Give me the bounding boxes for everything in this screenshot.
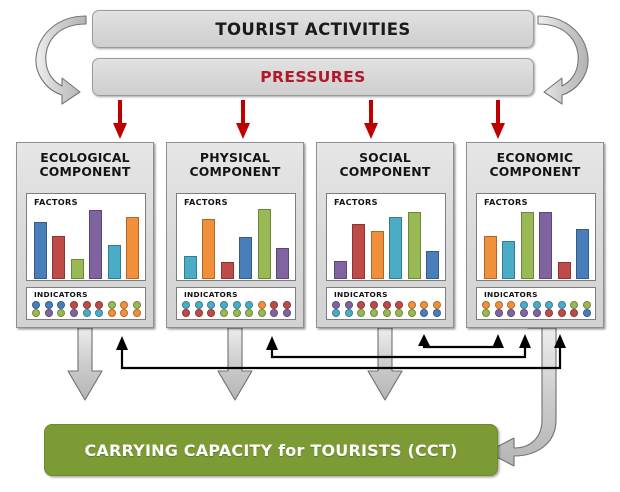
factor-bar (108, 245, 121, 279)
red-down-arrow-icon (364, 100, 378, 139)
factor-bar (184, 256, 197, 279)
factor-bar (334, 261, 347, 279)
indicator-dot (57, 301, 65, 309)
indicator-dot (95, 309, 103, 317)
indicator-dot (195, 301, 203, 309)
component-title-line2: COMPONENT (21, 165, 149, 179)
indicator-dot-column (207, 301, 215, 317)
black-up-arrow-icon (266, 336, 525, 357)
indicator-dot-column (245, 301, 253, 317)
indicator-dot-column (283, 301, 291, 317)
component-title-economic: ECONOMICCOMPONENT (471, 151, 599, 180)
indicator-dot-column (70, 301, 78, 317)
factor-bar (521, 212, 534, 279)
indicator-dot (220, 301, 228, 309)
component-title-social: SOCIALCOMPONENT (321, 151, 449, 180)
indicator-dot (70, 309, 78, 317)
curved-arrow-counterclockwise-icon (538, 16, 588, 104)
indicators-label: INDICATORS (484, 290, 538, 299)
factors-chart-social: FACTORS (326, 193, 446, 281)
indicator-dots (32, 299, 141, 317)
indicator-dot (332, 309, 340, 317)
indicator-dot-column (482, 301, 490, 317)
red-down-arrow-icon (113, 100, 127, 139)
factor-bar (239, 237, 252, 279)
component-card-ecological[interactable]: ECOLOGICALCOMPONENTFACTORSINDICATORS (16, 142, 154, 328)
factors-chart-physical: FACTORS (176, 193, 296, 281)
indicator-dot (533, 301, 541, 309)
indicator-dot (207, 309, 215, 317)
factor-bar (34, 222, 47, 279)
indicator-dot-column (45, 301, 53, 317)
indicator-dot (133, 309, 141, 317)
factors-chart-ecological: FACTORS (26, 193, 146, 281)
indicator-dot (545, 301, 553, 309)
indicator-dot (420, 301, 428, 309)
indicator-dot (83, 309, 91, 317)
indicator-dot (408, 301, 416, 309)
factor-bar (426, 251, 439, 279)
indicator-dot-column (95, 301, 103, 317)
factor-bar (539, 212, 552, 279)
black-up-arrow-icon (492, 334, 504, 348)
indicator-dot (408, 309, 416, 317)
component-card-physical[interactable]: PHYSICALCOMPONENTFACTORSINDICATORS (166, 142, 304, 328)
component-card-social[interactable]: SOCIALCOMPONENTFACTORSINDICATORS (316, 142, 454, 328)
indicator-dot-column (233, 301, 241, 317)
indicator-dot (70, 301, 78, 309)
black-up-arrow-icon (519, 334, 531, 348)
factors-bars (484, 205, 589, 279)
carrying-capacity-label: CARRYING CAPACITY for TOURISTS (CCT) (84, 441, 457, 460)
factor-bar (52, 236, 65, 279)
indicators-panel-social: INDICATORS (326, 287, 446, 320)
component-title-line2: COMPONENT (321, 165, 449, 179)
curved-arrow-clockwise-icon (36, 16, 86, 104)
indicator-dot (32, 309, 40, 317)
indicator-dot (383, 301, 391, 309)
factors-bars (34, 205, 139, 279)
indicators-label: INDICATORS (184, 290, 238, 299)
indicator-dot-column (357, 301, 365, 317)
indicator-dot (357, 301, 365, 309)
indicator-dot (270, 301, 278, 309)
component-title-line1: ECONOMIC (471, 151, 599, 165)
gray-down-arrow-icon (218, 328, 252, 400)
indicator-dot (95, 301, 103, 309)
indicator-dot (245, 301, 253, 309)
indicator-dots (482, 299, 591, 317)
gray-down-arrow-icon (68, 328, 102, 400)
component-title-line1: ECOLOGICAL (21, 151, 149, 165)
indicator-dot (495, 301, 503, 309)
factor-bar (484, 236, 497, 279)
indicators-label: INDICATORS (34, 290, 88, 299)
indicators-label: INDICATORS (334, 290, 388, 299)
indicator-dot (83, 301, 91, 309)
gray-down-arrow-icon (368, 328, 402, 400)
indicator-dot-column (507, 301, 515, 317)
factor-bar (389, 217, 402, 279)
indicator-dots (332, 299, 441, 317)
indicator-dot (258, 309, 266, 317)
indicator-dot (545, 309, 553, 317)
indicator-dot-column (332, 301, 340, 317)
indicator-dot (283, 309, 291, 317)
factor-bar (276, 248, 289, 280)
indicator-dot-column (270, 301, 278, 317)
indicator-dot (583, 309, 591, 317)
indicator-dot (383, 309, 391, 317)
indicator-dot (570, 309, 578, 317)
diagram-canvas: TOURIST ACTIVITIES PRESSURES ECOLOGICALC… (0, 0, 620, 492)
indicator-dot-column (495, 301, 503, 317)
tourist-activities-banner[interactable]: TOURIST ACTIVITIES (92, 10, 534, 48)
indicator-dot-column (220, 301, 228, 317)
indicator-dot (108, 301, 116, 309)
tourist-activities-label: TOURIST ACTIVITIES (215, 20, 410, 39)
factor-bar (502, 241, 515, 280)
factor-bar (221, 262, 234, 279)
indicator-dot (182, 309, 190, 317)
indicator-dot-column (395, 301, 403, 317)
indicator-dot-column (133, 301, 141, 317)
indicator-dot (233, 309, 241, 317)
indicator-dot-column (57, 301, 65, 317)
indicator-dot-column (570, 301, 578, 317)
factors-bars (334, 205, 439, 279)
red-down-arrow-icon (491, 100, 505, 139)
indicator-dot (370, 309, 378, 317)
indicator-dot-column (195, 301, 203, 317)
component-card-economic[interactable]: ECONOMICCOMPONENTFACTORSINDICATORS (466, 142, 604, 328)
indicator-dot (32, 301, 40, 309)
indicator-dot (45, 309, 53, 317)
component-title-physical: PHYSICALCOMPONENT (171, 151, 299, 180)
indicator-dot (507, 309, 515, 317)
indicator-dot-column (545, 301, 553, 317)
indicator-dot-column (83, 301, 91, 317)
indicator-dot-column (182, 301, 190, 317)
pressures-banner[interactable]: PRESSURES (92, 58, 534, 96)
carrying-capacity-banner[interactable]: CARRYING CAPACITY for TOURISTS (CCT) (44, 424, 498, 476)
component-title-line2: COMPONENT (471, 165, 599, 179)
factor-bar (371, 231, 384, 279)
factor-bar (558, 262, 571, 280)
indicator-dot (507, 301, 515, 309)
factor-bar (576, 229, 589, 279)
factor-bar (408, 212, 421, 279)
black-up-arrow-icon (418, 334, 498, 347)
indicators-panel-physical: INDICATORS (176, 287, 296, 320)
indicator-dot (558, 309, 566, 317)
factor-bar (258, 209, 271, 279)
indicator-dot (420, 309, 428, 317)
indicator-dot-column (420, 301, 428, 317)
indicator-dot-column (108, 301, 116, 317)
indicator-dot (245, 309, 253, 317)
component-title-line1: SOCIAL (321, 151, 449, 165)
indicator-dot (520, 301, 528, 309)
indicator-dot-column (583, 301, 591, 317)
indicator-dot (108, 309, 116, 317)
red-down-arrow-icon (236, 100, 250, 139)
indicator-dot-column (408, 301, 416, 317)
factor-bar (71, 259, 84, 279)
component-title-ecological: ECOLOGICALCOMPONENT (21, 151, 149, 180)
factor-bar (89, 210, 102, 279)
black-up-arrow-icon (116, 336, 560, 368)
indicator-dot (345, 309, 353, 317)
indicator-dot-column (520, 301, 528, 317)
indicator-dot (583, 301, 591, 309)
indicator-dot (370, 301, 378, 309)
component-title-line2: COMPONENT (171, 165, 299, 179)
black-up-arrow-icon (554, 334, 566, 348)
factors-chart-economic: FACTORS (476, 193, 596, 281)
indicator-dot (220, 309, 228, 317)
indicator-dot (570, 301, 578, 309)
indicator-dot-column (558, 301, 566, 317)
indicator-dot (357, 309, 365, 317)
indicator-dot (558, 301, 566, 309)
indicator-dot (395, 301, 403, 309)
indicators-panel-economic: INDICATORS (476, 287, 596, 320)
indicator-dot-column (345, 301, 353, 317)
indicator-dot (433, 301, 441, 309)
gray-flow-arrow-group (68, 328, 402, 400)
indicator-dot (207, 301, 215, 309)
indicator-dot (345, 301, 353, 309)
indicator-dot-column (433, 301, 441, 317)
indicator-dot-column (258, 301, 266, 317)
indicator-dot (482, 301, 490, 309)
factor-bar (352, 224, 365, 279)
indicator-dots (182, 299, 291, 317)
factor-bar (126, 217, 139, 279)
indicator-dot (195, 309, 203, 317)
indicator-dot (258, 301, 266, 309)
indicator-dot (332, 301, 340, 309)
indicator-dot (482, 309, 490, 317)
indicator-dot (495, 309, 503, 317)
pressures-label: PRESSURES (260, 68, 365, 86)
indicators-panel-ecological: INDICATORS (26, 287, 146, 320)
factors-bars (184, 205, 289, 279)
indicator-dot-column (533, 301, 541, 317)
indicator-dot (520, 309, 528, 317)
indicator-dot (45, 301, 53, 309)
factor-bar (202, 219, 215, 279)
indicator-dot (283, 301, 291, 309)
component-title-line1: PHYSICAL (171, 151, 299, 165)
indicator-dot-column (120, 301, 128, 317)
indicator-dot (182, 301, 190, 309)
indicator-dot-column (32, 301, 40, 317)
indicator-dot (395, 309, 403, 317)
indicator-dot (233, 301, 241, 309)
indicator-dot (270, 309, 278, 317)
indicator-dot (57, 309, 65, 317)
indicator-dot-column (383, 301, 391, 317)
indicator-dot (120, 309, 128, 317)
indicator-dot (120, 301, 128, 309)
indicator-dot (533, 309, 541, 317)
indicator-dot (133, 301, 141, 309)
indicator-dot-column (370, 301, 378, 317)
red-down-arrow-group (113, 100, 505, 139)
black-link-arrow-group (116, 334, 566, 368)
indicator-dot (433, 309, 441, 317)
